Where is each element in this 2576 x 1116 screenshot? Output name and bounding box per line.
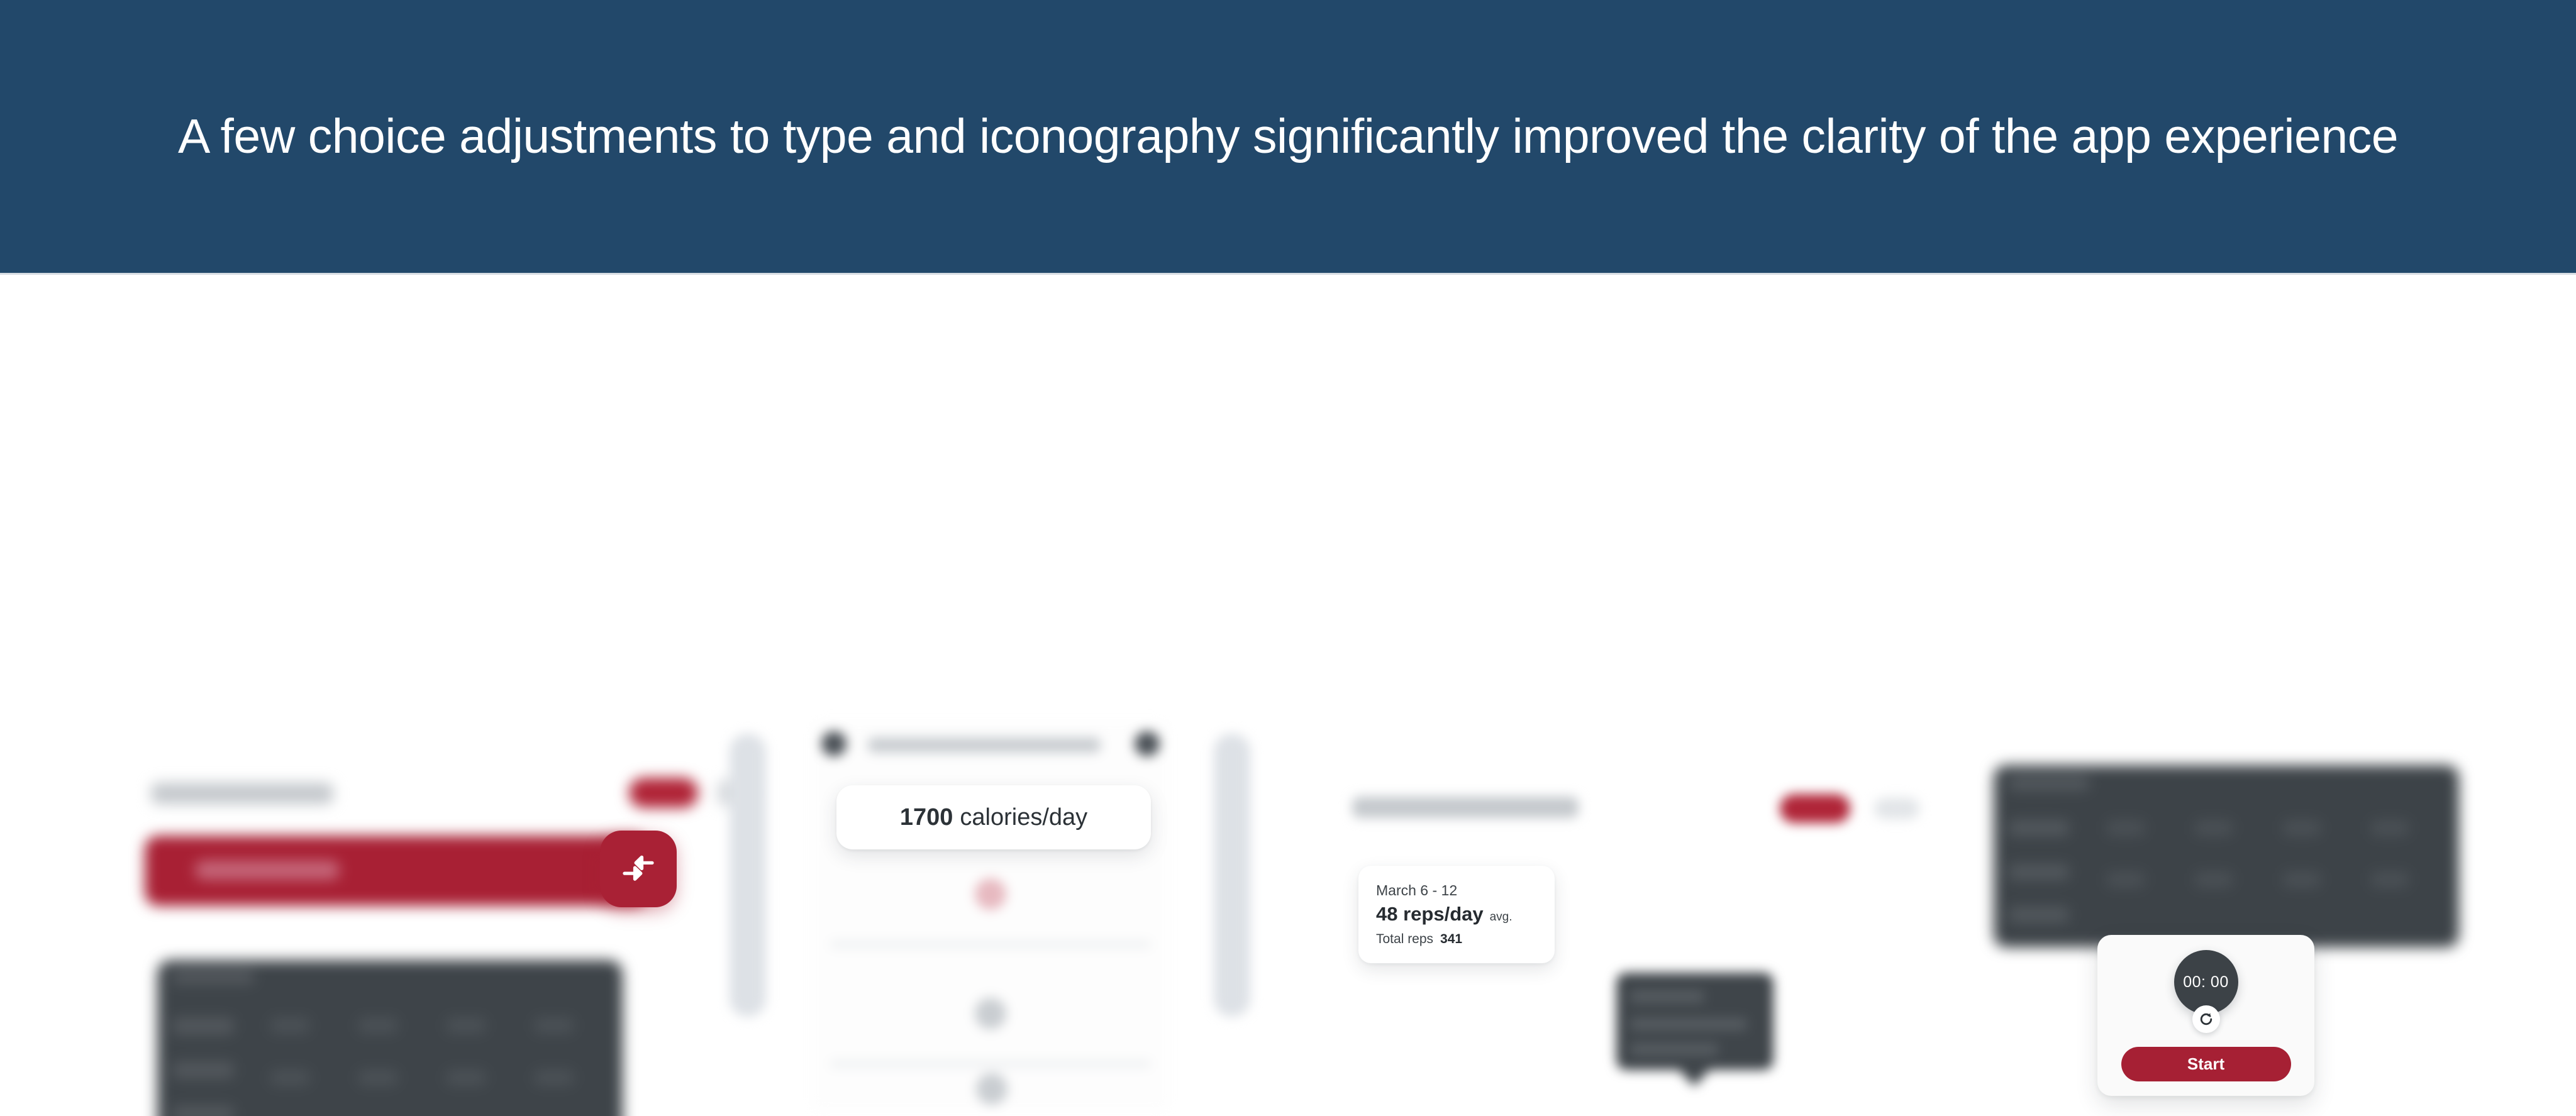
sets-table-cell [358,1018,397,1033]
weekly-stat-card[interactable]: March 6 - 12 48 reps/day avg. Total reps… [1358,866,1555,963]
tooltip-line [1630,1018,1747,1030]
sets-table-row-label [2009,865,2069,880]
timer-sets-table [1994,765,2459,947]
stat-average-suffix: avg. [1490,910,1513,924]
nutrition-screen [811,721,1170,1111]
stat-total-label: Total reps [1376,932,1433,947]
phone-frame-right [1214,734,1250,1017]
start-timer-label: Start [2187,1054,2224,1074]
sets-table-cell [270,1018,309,1033]
rest-timer-card: 00: 00 Start [2097,935,2314,1096]
tooltip-line [1630,1043,1718,1056]
tooltip-line [1630,990,1704,1003]
sets-table-row-label [172,1106,234,1116]
stat-average-row: 48 reps/day avg. [1376,903,1537,925]
phone-frame-left [730,734,766,1017]
calorie-value: 1700 [900,804,953,831]
meal-icon [975,998,1006,1029]
reset-icon [2198,1011,2214,1027]
calorie-goal-card[interactable]: 1700 calories/day [836,785,1151,849]
sets-table-cell [2107,820,2145,836]
sets-table-cell [447,1018,486,1033]
sets-table-row-label [2009,820,2069,836]
sets-table-row-label [172,1018,234,1034]
sets-table-cell [2283,820,2321,836]
list-divider [830,1061,1151,1067]
calorie-unit: calories/day [960,804,1087,831]
stat-date-range: March 6 - 12 [1376,882,1537,899]
page-header: A few choice adjustments to type and ico… [0,0,2576,275]
sets-table-cell [2195,820,2233,836]
menu-icon[interactable] [821,731,847,756]
sets-table-cell [358,1070,397,1085]
swap-exercise-button[interactable] [600,831,677,907]
chart-tooltip [1616,973,1774,1070]
meal-icon [975,878,1006,910]
sets-table-row-label [2009,907,2069,922]
progress-filter-button[interactable] [1874,798,1919,819]
sets-table-cell [535,1018,574,1033]
page-title: A few choice adjustments to type and ico… [178,106,2398,168]
stat-average-value: 48 reps/day [1376,903,1484,925]
workout-progress-title [1352,797,1579,818]
sets-table-row-label [172,1062,234,1078]
more-icon[interactable] [1135,731,1160,756]
stat-total-row: Total reps 341 [1376,932,1537,947]
track-workout-exercise-row[interactable] [145,836,648,906]
sets-table-cell [2195,872,2233,887]
sets-table-cell [2371,872,2409,887]
panel-track-workout [132,778,648,1116]
track-workout-save-button[interactable] [629,778,698,808]
sets-table-title [172,969,254,984]
track-workout-exercise-label [195,861,340,880]
swap-horizontal-icon [618,848,659,890]
panel-rest-timer: 00: 00 Start [1968,753,2484,1116]
meal-icon [976,1073,1008,1105]
sets-table-cell [270,1070,309,1085]
sets-table-cell [535,1070,574,1085]
panel-nutrition-diet: 1700 calories/day [730,715,1283,1116]
panel-workout-progress: March 6 - 12 48 reps/day avg. Total reps… [1346,790,1912,1116]
timer-display-value: 00: 00 [2183,973,2229,992]
mockup-showcase: 1700 calories/day March 6 - 12 48 reps/d… [0,275,2576,1114]
list-divider [830,941,1151,947]
track-workout-title [151,783,333,804]
sets-table-cell [2283,872,2321,887]
sets-table-cell [2371,820,2409,836]
stat-total-value: 341 [1440,932,1462,947]
nutrition-nav-title [868,738,1101,753]
sets-table-cell [447,1070,486,1085]
progress-range-button[interactable] [1780,794,1850,823]
sets-table-cell [2107,872,2145,887]
start-timer-button[interactable]: Start [2121,1047,2291,1081]
timer-reset-button[interactable] [2192,1005,2220,1033]
timer-display-circle[interactable]: 00: 00 [2174,950,2238,1014]
sets-table-title [2009,775,2089,790]
track-workout-sets-table [157,960,623,1116]
